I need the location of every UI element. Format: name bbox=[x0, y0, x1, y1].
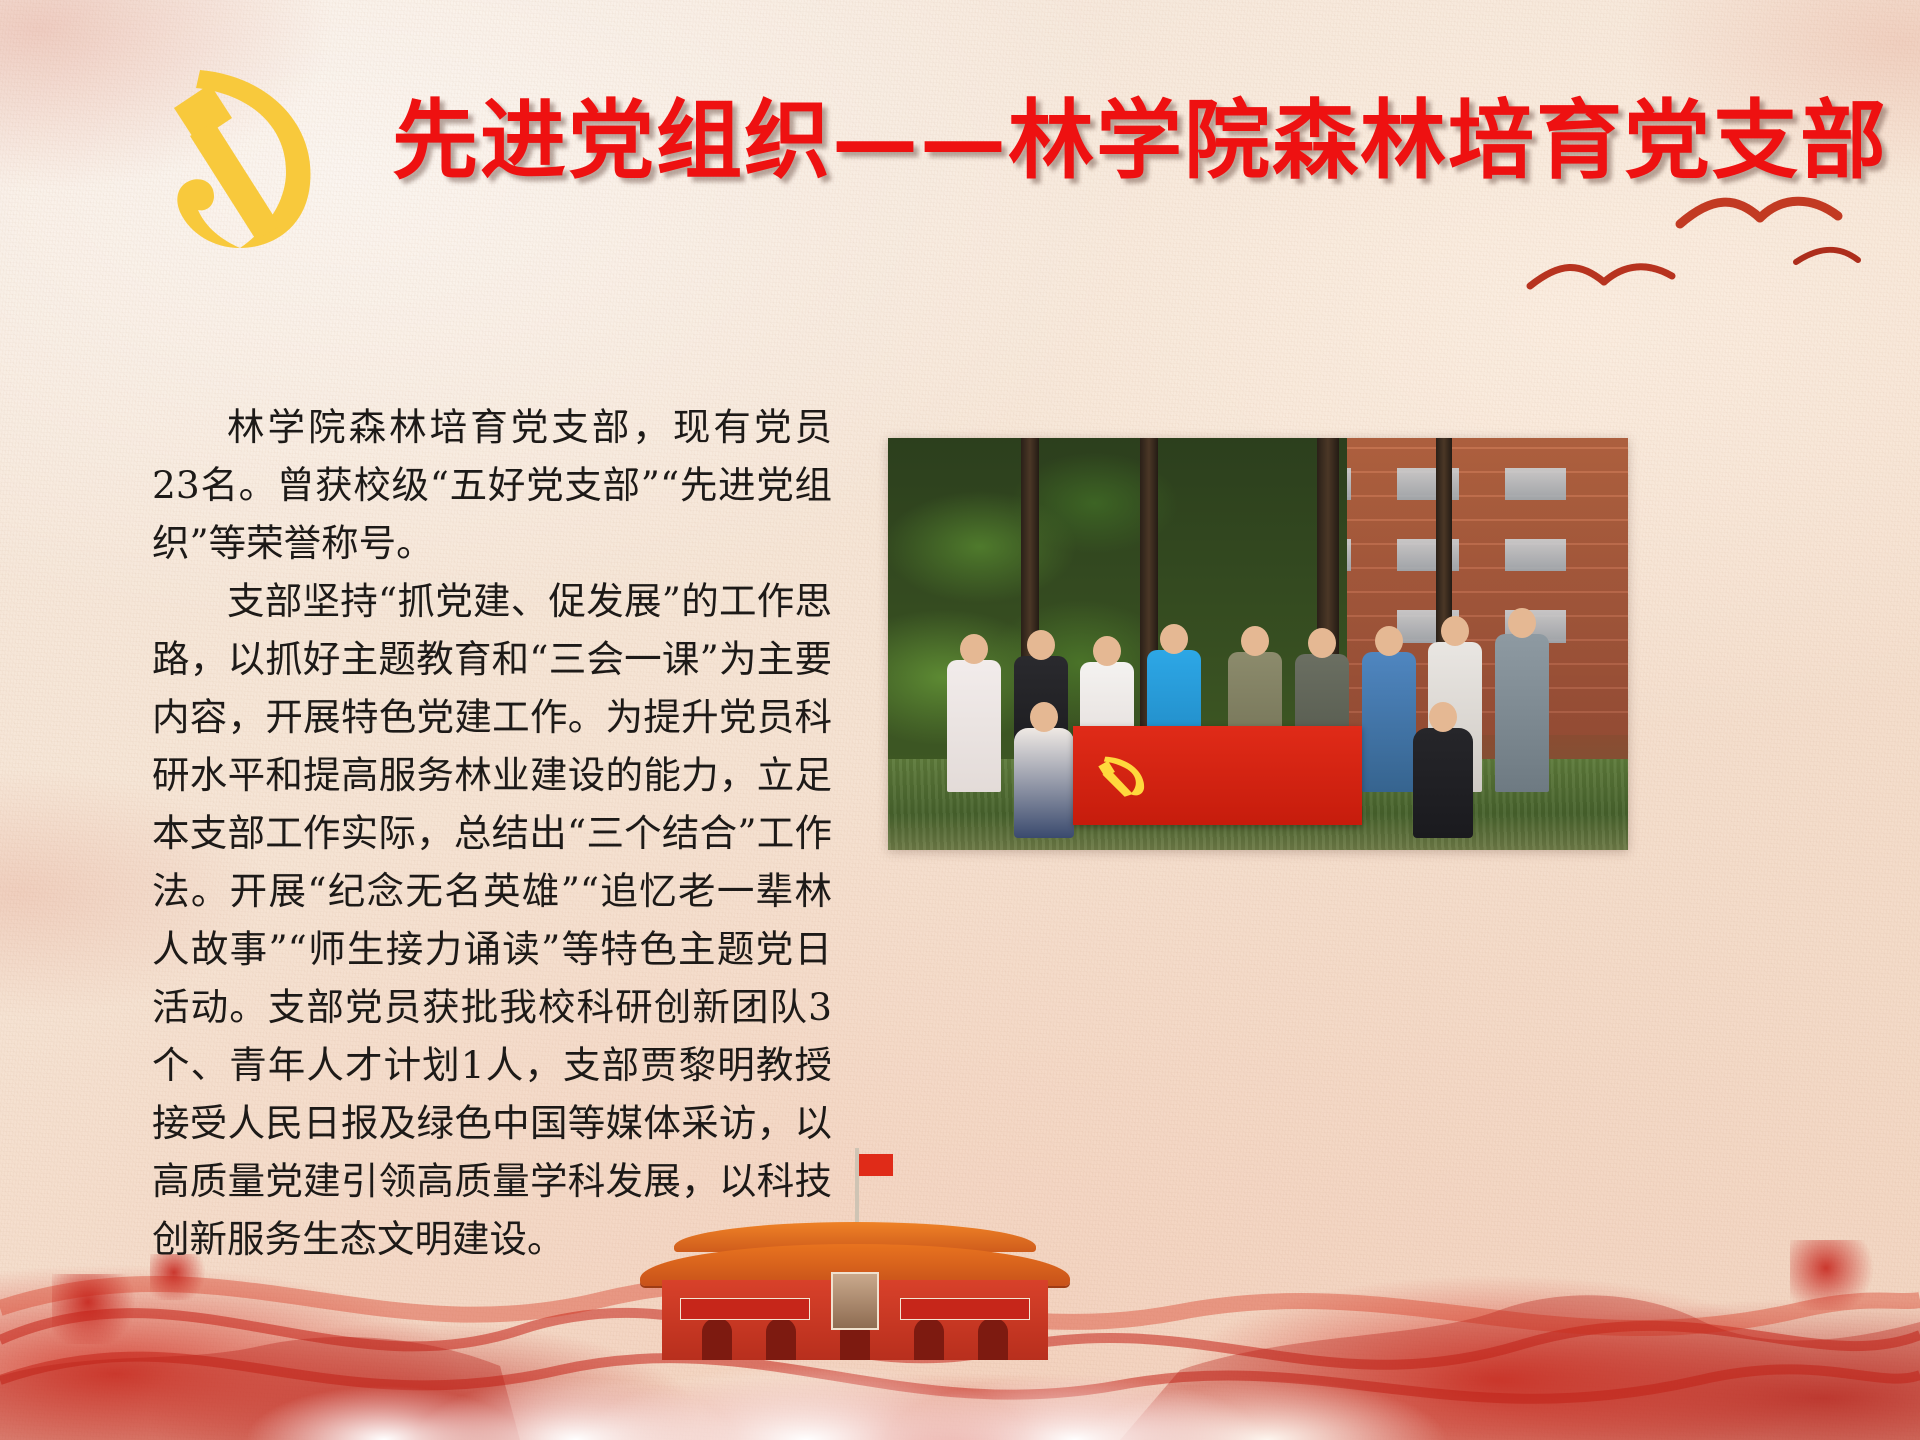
slide-canvas: 先进党组织——林学院森林培育党支部 林学院森林培育党支部，现有党员23名。曾获校… bbox=[0, 0, 1920, 1440]
slide-header: 先进党组织——林学院森林培育党支部 bbox=[0, 0, 1920, 300]
photo-person-kneeling bbox=[1413, 728, 1473, 838]
photo-person bbox=[1495, 634, 1549, 792]
photo-party-flag bbox=[1073, 726, 1362, 825]
gate-banner-right bbox=[900, 1298, 1030, 1320]
article-paragraph-2: 支部坚持“抓党建、促发展”的工作思路，以抓好主题教育和“三会一课”为主要内容，开… bbox=[152, 572, 832, 1268]
gate-banner-left bbox=[680, 1298, 810, 1320]
article-body: 林学院森林培育党支部，现有党员23名。曾获校级“五好党支部”“先进党组织”等荣誉… bbox=[152, 398, 832, 1268]
group-photo bbox=[888, 438, 1628, 850]
photo-person-kneeling bbox=[1014, 728, 1074, 838]
hammer-sickle-icon bbox=[1090, 744, 1159, 805]
party-hammer-sickle-emblem-icon bbox=[140, 62, 340, 252]
photo-person bbox=[1362, 652, 1416, 792]
page-title: 先进党组织——林学院森林培育党支部 bbox=[392, 96, 1888, 186]
article-paragraph-1: 林学院森林培育党支部，现有党员23名。曾获校级“五好党支部”“先进党组织”等荣誉… bbox=[152, 398, 832, 572]
photo-person bbox=[947, 660, 1001, 792]
